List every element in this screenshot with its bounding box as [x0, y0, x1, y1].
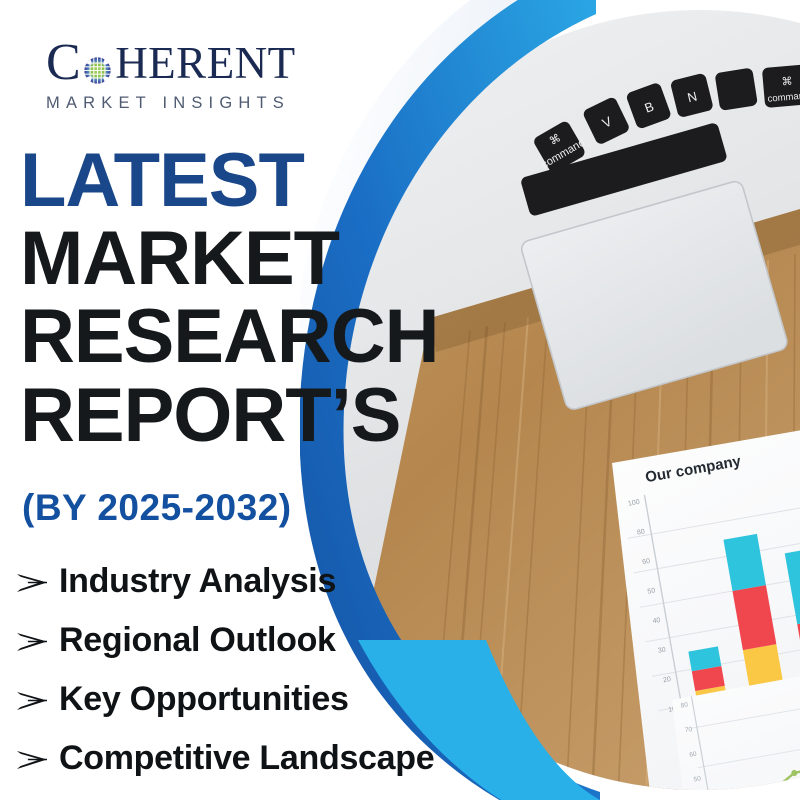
- svg-text:80: 80: [680, 701, 689, 709]
- brand-logo[interactable]: C: [46, 38, 346, 113]
- brand-wordmark-rest: HERENT: [115, 41, 295, 86]
- promo-poster: command ⌘ V B N: [0, 0, 800, 800]
- list-item[interactable]: Key Opportunities: [16, 670, 516, 729]
- svg-text:50: 50: [647, 587, 656, 595]
- brand-wordmark: C: [46, 38, 346, 88]
- key-label-v: V: [600, 113, 615, 130]
- command-glyph-icon-2: ⌘: [781, 75, 793, 89]
- svg-text:100: 100: [628, 499, 641, 508]
- list-item[interactable]: Industry Analysis: [16, 552, 516, 611]
- list-item-label: Competitive Landscape: [59, 739, 434, 778]
- svg-text:30: 30: [657, 647, 666, 655]
- list-item[interactable]: Regional Outlook: [16, 611, 516, 670]
- headline-line-3: RESEARCH: [20, 301, 500, 373]
- svg-text:jan: jan: [710, 720, 722, 731]
- svg-text:20: 20: [663, 676, 672, 684]
- printed-bar-chart-sheet: 100 80 60 50 40 30 20 10: [590, 380, 800, 800]
- svg-text:60: 60: [642, 558, 651, 566]
- headline-line-2: MARKET: [20, 223, 500, 295]
- svg-text:10: 10: [668, 706, 677, 714]
- line-series-green: [713, 644, 800, 800]
- feature-bullet-list: Industry Analysis Regional Outlook: [16, 552, 516, 788]
- line-series-pink: [740, 662, 800, 800]
- globe-icon: [81, 49, 114, 82]
- command-glyph-icon: ⌘: [547, 131, 563, 148]
- brand-letter-c: C: [46, 37, 81, 89]
- key-label-b: B: [643, 99, 656, 116]
- text-column: C: [0, 0, 520, 800]
- printed-chart-xlabel: Business items: [695, 740, 792, 771]
- svg-text:70: 70: [684, 726, 693, 734]
- headline-line-4: REPORT’S: [20, 380, 500, 452]
- headline-line-1: LATEST: [20, 145, 500, 217]
- list-item[interactable]: Competitive Landscape: [16, 729, 516, 788]
- list-item-label: Key Opportunities: [59, 680, 349, 719]
- printed-chart-title: Our company: [644, 453, 743, 487]
- svg-text:80: 80: [637, 528, 646, 536]
- bar-group: [664, 448, 800, 718]
- svg-text:feb: feb: [766, 710, 778, 721]
- key-label-command-right: command: [767, 90, 800, 105]
- list-item-label: Industry Analysis: [59, 562, 336, 601]
- svg-text:60: 60: [689, 751, 698, 759]
- printed-line-chart-sheet: 80 70 60 50 40 30 20 10: [650, 620, 800, 800]
- key-label-command-left: command: [539, 137, 587, 172]
- arrow-bullet-icon: [16, 629, 50, 655]
- keyboard-bottom-row: command ⌘ V B N: [528, 64, 800, 176]
- list-item-label: Regional Outlook: [59, 621, 336, 660]
- trackpad: [520, 180, 789, 412]
- laptop: command ⌘ V B N: [520, 64, 800, 411]
- spacebar-key: [520, 122, 728, 217]
- arrow-bullet-icon: [16, 688, 50, 714]
- arrow-bullet-icon: [16, 747, 50, 773]
- svg-text:40: 40: [652, 617, 661, 625]
- key-label-n: N: [686, 88, 699, 105]
- brand-tagline: MARKET INSIGHTS: [46, 94, 346, 113]
- svg-text:50: 50: [693, 775, 702, 783]
- year-range-subtitle: (BY 2025-2032): [22, 487, 292, 529]
- headline-block: LATEST MARKET RESEARCH REPORT’S: [20, 145, 500, 458]
- arrow-bullet-icon: [16, 570, 50, 596]
